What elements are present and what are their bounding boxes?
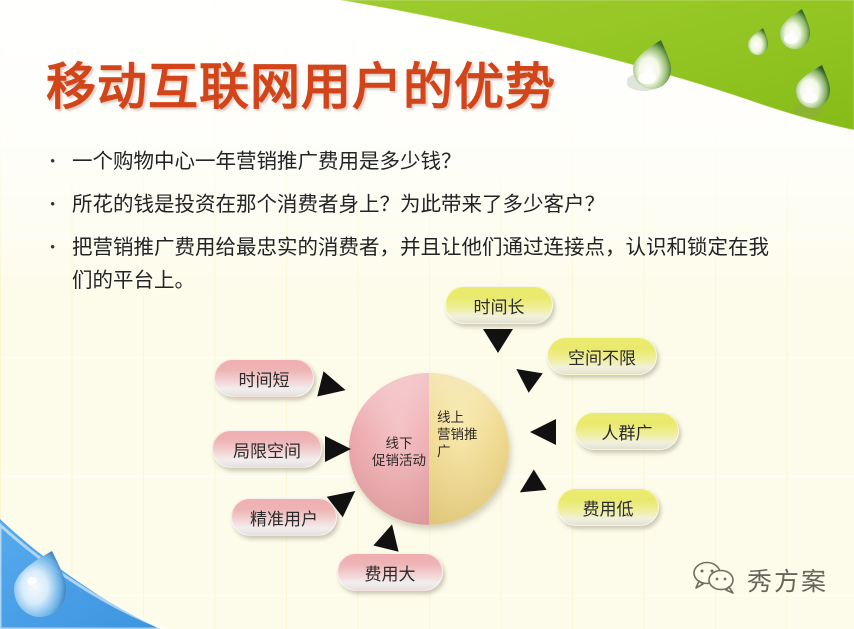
- arrow-top-to-center: [483, 329, 513, 353]
- arrow-right-middle-to-center: [530, 419, 556, 445]
- page-title: 移动互联网用户的优势: [46, 47, 556, 119]
- bullet-item: • 把营销推广费用给最忠实的消费者，并且让他们通过连接点，认识和锁定在我们的平台…: [46, 232, 786, 298]
- node-bottom-label: 费用大: [365, 560, 416, 585]
- watermark: 秀方案: [691, 560, 828, 599]
- bullet-text: 所花的钱是投资在那个消费者身上？为此带来了多少客户？: [72, 189, 786, 222]
- node-right-middle[interactable]: 人群广: [575, 412, 679, 450]
- arrow-right-lower-to-center: [513, 469, 546, 502]
- arrow-left-upper-to-center: [317, 371, 349, 403]
- bullet-text: 把营销推广费用给最忠实的消费者，并且让他们通过连接点，认识和锁定在我们的平台上。: [72, 232, 786, 298]
- node-left-middle[interactable]: 局限空间: [212, 430, 322, 468]
- node-left-upper[interactable]: 时间短: [214, 359, 314, 397]
- footer-blue-corner: [0, 509, 260, 629]
- watermark-label: 秀方案: [747, 562, 828, 598]
- node-top-label: 时间长: [474, 293, 525, 318]
- node-right-middle-label: 人群广: [602, 419, 653, 444]
- node-right-upper[interactable]: 空间不限: [547, 337, 657, 375]
- bullet-item: • 所花的钱是投资在那个消费者身上？为此带来了多少客户？: [46, 189, 786, 222]
- wechat-bubbles-icon: [691, 560, 737, 599]
- bullet-list: • 一个购物中心一年营销推广费用是多少钱？ • 所花的钱是投资在那个消费者身上？…: [46, 146, 786, 308]
- center-circle[interactable]: 线下 促销活动 线上 营销推 广: [349, 373, 509, 525]
- circle-label-offline: 线下 促销活动: [367, 435, 431, 469]
- node-left-upper-label: 时间短: [239, 366, 290, 391]
- bullet-marker-icon: •: [46, 146, 72, 179]
- bullet-text: 一个购物中心一年营销推广费用是多少钱？: [72, 146, 786, 179]
- bullet-marker-icon: •: [46, 232, 72, 265]
- circle-label-online: 线上 营销推 广: [437, 409, 493, 460]
- node-top[interactable]: 时间长: [445, 286, 553, 324]
- arrow-bottom-to-center: [373, 521, 404, 552]
- bullet-marker-icon: •: [46, 189, 72, 222]
- arrow-left-middle-to-center: [325, 436, 351, 462]
- node-right-lower-label: 费用低: [583, 495, 634, 520]
- node-right-lower[interactable]: 费用低: [557, 488, 659, 526]
- node-bottom[interactable]: 费用大: [337, 553, 443, 591]
- node-right-upper-label: 空间不限: [568, 344, 636, 369]
- bullet-item: • 一个购物中心一年营销推广费用是多少钱？: [46, 146, 786, 179]
- node-left-middle-label: 局限空间: [233, 437, 301, 462]
- node-left-lower-label: 精准用户: [250, 505, 318, 530]
- arrow-right-upper-to-center: [509, 359, 543, 393]
- slide-canvas: 移动互联网用户的优势 • 一个购物中心一年营销推广费用是多少钱？ • 所花的钱是…: [0, 0, 854, 629]
